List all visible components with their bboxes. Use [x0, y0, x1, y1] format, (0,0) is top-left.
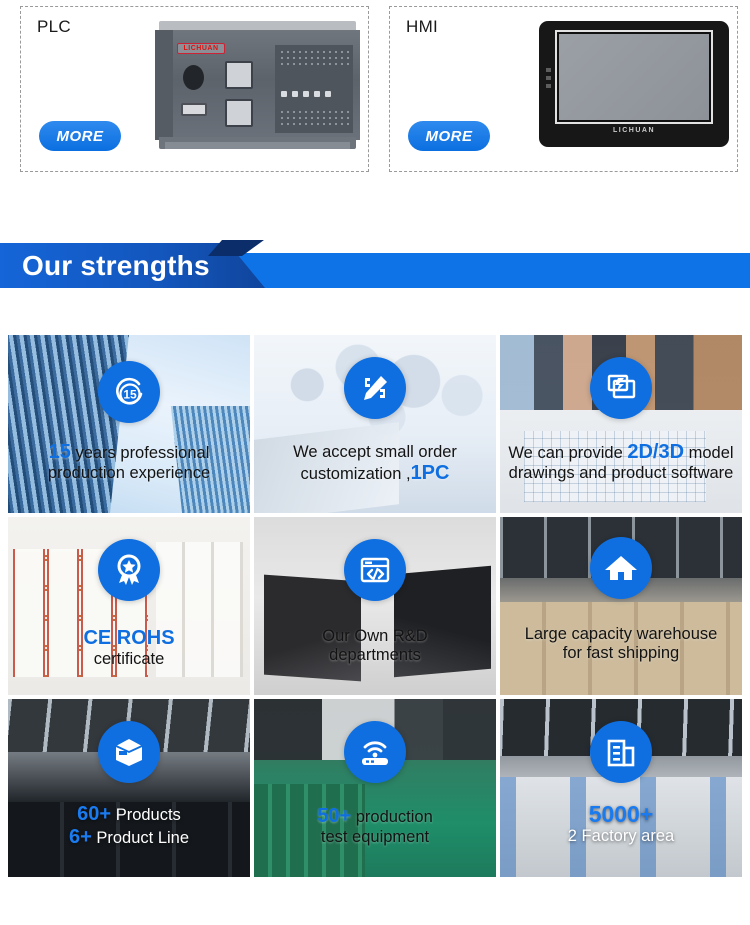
plc-device-image: LICHUAN: [155, 21, 360, 149]
more-button-plc[interactable]: MORE: [39, 121, 121, 151]
strength-cell-drawings[interactable]: We can provide 2D/3D model drawings and …: [500, 335, 742, 513]
product-card-hmi[interactable]: HMI LICHUAN MORE: [389, 6, 738, 172]
strength-cell-test-equipment[interactable]: 50+ production test equipment: [254, 699, 496, 877]
strength-caption-certificate: CE ROHS certificate: [8, 627, 250, 669]
test-equipment-count-highlight: 50+: [317, 805, 351, 827]
strength-cell-products[interactable]: 60+ Products 6+ Product Line: [8, 699, 250, 877]
page-root: PLC LICHUAN MORE HMI: [0, 0, 750, 925]
product-line-count-highlight: 6+: [69, 826, 92, 848]
medal-star-icon: [98, 539, 160, 601]
strengths-grid: 15 15 years professional production expe…: [8, 335, 742, 877]
factory-area-highlight: 5000+: [589, 801, 654, 827]
pen-customization-icon: [344, 357, 406, 419]
strength-caption-drawings: We can provide 2D/3D model drawings and …: [500, 441, 742, 483]
strength-caption-test-equipment: 50+ production test equipment: [254, 805, 496, 847]
years-highlight: 15: [49, 441, 71, 463]
strength-cell-certificate[interactable]: CE ROHS certificate: [8, 517, 250, 695]
wifi-router-icon: [344, 721, 406, 783]
onepc-highlight: 1PC: [411, 462, 450, 484]
plc-brand-logo: LICHUAN: [177, 43, 225, 54]
product-label-plc: PLC: [37, 17, 71, 37]
box-package-icon: [98, 721, 160, 783]
hmi-brand-logo: LICHUAN: [539, 127, 729, 134]
strength-cell-years[interactable]: 15 15 years professional production expe…: [8, 335, 250, 513]
svg-text:15: 15: [123, 388, 137, 402]
ce-rohs-highlight: CE ROHS: [83, 627, 174, 649]
twodthreed-highlight: 2D/3D: [627, 441, 684, 463]
section-banner: Our strengths: [0, 240, 750, 288]
strength-cell-rnd[interactable]: Our Own R&D departments: [254, 517, 496, 695]
strength-cell-small-order[interactable]: We accept small order customization ,1PC: [254, 335, 496, 513]
strength-cell-warehouse[interactable]: Large capacity warehouse for fast shippi…: [500, 517, 742, 695]
products-count-highlight: 60+: [77, 803, 111, 825]
section-title: Our strengths: [22, 243, 210, 288]
clock-15-icon: 15: [98, 361, 160, 423]
product-card-plc[interactable]: PLC LICHUAN MORE: [20, 6, 369, 172]
product-cards-row: PLC LICHUAN MORE HMI: [0, 0, 750, 178]
strength-cell-factory-area[interactable]: 5000+ 2 Factory area: [500, 699, 742, 877]
more-button-hmi[interactable]: MORE: [408, 121, 490, 151]
factory-building-icon: [590, 721, 652, 783]
strength-caption-warehouse: Large capacity warehouse for fast shippi…: [500, 625, 742, 663]
strength-caption-factory-area: 5000+ 2 Factory area: [500, 801, 742, 846]
strength-caption-small-order: We accept small order customization ,1PC: [254, 443, 496, 485]
hmi-device-image: LICHUAN: [539, 21, 729, 147]
home-icon: [590, 537, 652, 599]
strength-caption-products: 60+ Products 6+ Product Line: [8, 803, 250, 849]
code-window-icon: [344, 539, 406, 601]
strength-caption-years: 15 years professional production experie…: [8, 441, 250, 483]
cad-drawing-icon: [590, 357, 652, 419]
product-label-hmi: HMI: [406, 17, 438, 37]
strength-caption-rnd: Our Own R&D departments: [254, 627, 496, 665]
